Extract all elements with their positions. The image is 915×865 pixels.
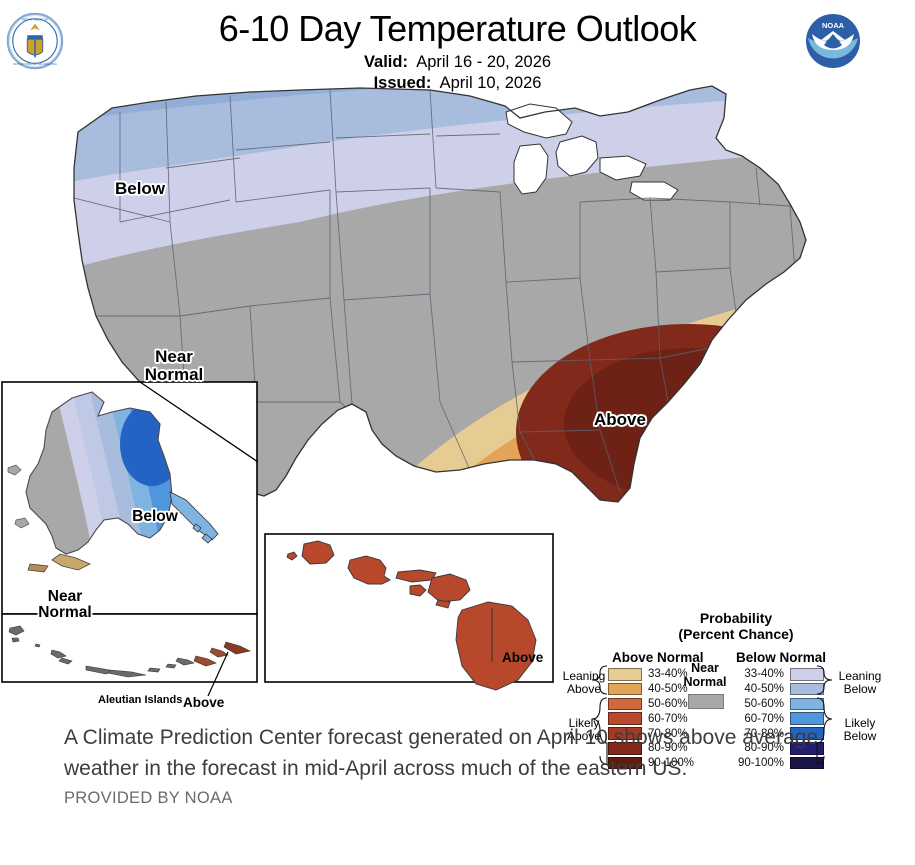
legend-range-below-2: 50-60% — [732, 698, 784, 710]
legend-bracket-leaning-below: LeaningBelow — [832, 670, 888, 696]
legend-row: 50-60% — [732, 697, 824, 712]
page-title: 6-10 Day Temperature Outlook — [0, 8, 915, 50]
legend-title-line2: (Percent Chance) — [560, 626, 912, 642]
legend-swatch-above-2 — [608, 698, 642, 711]
outlook-graphic: DEPARTMENT OF UNITED STATES OF AMERICA N… — [0, 0, 915, 865]
legend-range-above-1: 40-50% — [648, 683, 688, 695]
caption-block: A Climate Prediction Center forecast gen… — [64, 722, 854, 808]
legend-range-above-2: 50-60% — [648, 698, 688, 710]
map-label-above-hawaii: Above — [502, 650, 543, 665]
legend-range-above-0: 33-40% — [648, 668, 688, 680]
map-label-above-aleutian: Above — [183, 695, 224, 710]
valid-value: April 16 - 20, 2026 — [416, 53, 551, 71]
legend-below-normal-header: Below Normal — [736, 650, 826, 665]
valid-label: Valid: — [364, 53, 408, 71]
caption-credit: PROVIDED BY NOAA — [64, 789, 854, 808]
legend-row: 33-40% — [608, 667, 694, 682]
legend-row: 50-60% — [608, 697, 694, 712]
outlook-map: Below NearNormal Above Below NearNormal … — [0, 72, 915, 712]
legend-row: 40-50% — [608, 682, 694, 697]
caption-text: A Climate Prediction Center forecast gen… — [64, 722, 854, 784]
legend-swatch-above-1 — [608, 683, 642, 696]
valid-line: Valid: April 16 - 20, 2026 — [0, 52, 915, 73]
alaska-inset — [0, 372, 260, 622]
legend-title: Probability (Percent Chance) — [560, 610, 912, 642]
legend-row: 33-40% — [732, 667, 824, 682]
legend-range-below-0: 33-40% — [732, 668, 784, 680]
legend-bracket-leaning-above: LeaningAbove — [558, 670, 610, 696]
legend-row: 40-50% — [732, 682, 824, 697]
legend-range-below-1: 40-50% — [732, 683, 784, 695]
legend-swatch-above-0 — [608, 668, 642, 681]
aleutian-inset — [2, 614, 257, 700]
hawaii-inset — [265, 534, 553, 690]
legend-title-line1: Probability — [700, 610, 772, 626]
aleutian-islands-label: Aleutian Islands — [98, 694, 182, 706]
